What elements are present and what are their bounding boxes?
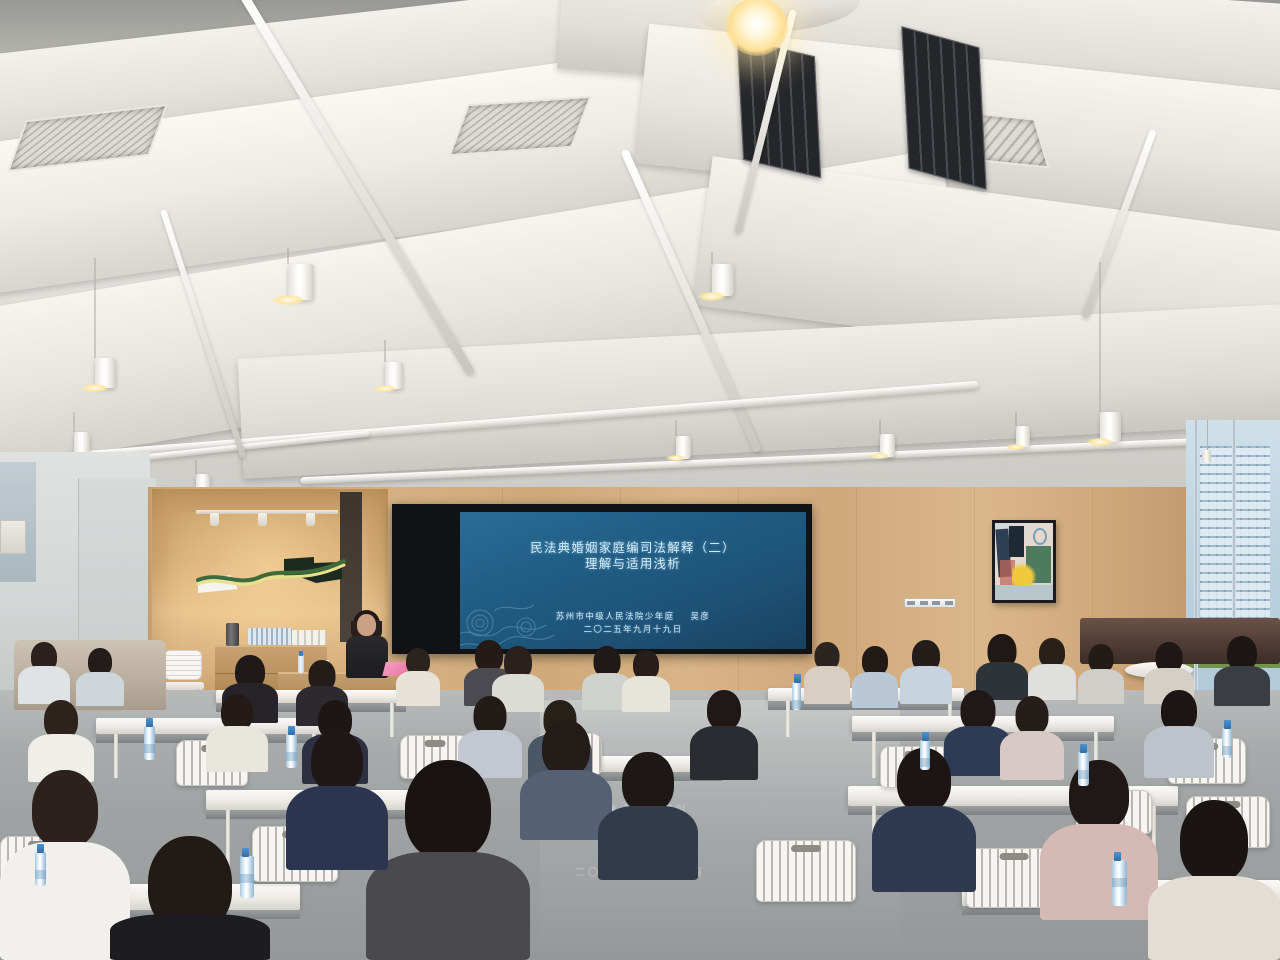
water-bottle xyxy=(792,682,801,710)
presenter xyxy=(344,614,390,676)
water-bottle xyxy=(35,852,46,886)
attendee xyxy=(622,650,670,712)
water-bottle xyxy=(1222,728,1232,758)
return-air-grille-icon xyxy=(901,26,986,189)
slide-organization: 苏州市中级人民法院少年庭 xyxy=(556,611,675,621)
attendee xyxy=(366,760,530,960)
attendee xyxy=(1148,800,1280,960)
paper-cups-stack xyxy=(248,628,292,645)
water-bottle xyxy=(240,856,254,898)
track-spotlight-icon xyxy=(258,513,267,526)
attendee xyxy=(286,730,388,870)
slide-date: 二〇二五年九月十九日 xyxy=(460,623,806,636)
attendee xyxy=(804,642,850,704)
attendee xyxy=(852,646,898,708)
slide-byline: 苏州市中级人民法院少年庭吴彦 二〇二五年九月十九日 xyxy=(460,610,806,636)
track-spotlight-icon xyxy=(210,513,219,526)
audience-chair[interactable] xyxy=(756,840,856,902)
ac-unit-icon xyxy=(0,520,26,554)
paper-cups-row xyxy=(292,630,326,645)
presentation-slide: 民法典婚姻家庭编司法解释（二） 理解与适用浅析 苏州市中级人民法院少年庭吴彦 二… xyxy=(460,512,806,649)
attendee xyxy=(18,642,70,704)
attendee xyxy=(396,648,440,706)
attendee xyxy=(1078,644,1124,704)
attendee xyxy=(1214,636,1270,706)
ceiling-lamp-bright xyxy=(726,0,788,56)
attendee xyxy=(1040,760,1158,920)
slide-title: 民法典婚姻家庭编司法解释（二） 理解与适用浅析 xyxy=(460,540,806,572)
attendee xyxy=(206,694,268,772)
water-bottle xyxy=(1112,860,1127,906)
pendant-light xyxy=(1202,450,1211,463)
air-diffuser-icon xyxy=(449,96,592,156)
slide-presenter: 吴彦 xyxy=(691,611,711,621)
water-bottle xyxy=(1078,752,1089,786)
attendee xyxy=(76,648,124,706)
attendee xyxy=(1028,638,1076,700)
water-bottle xyxy=(144,726,155,760)
framed-painting xyxy=(992,520,1056,603)
water-bottle xyxy=(920,740,930,770)
attendee xyxy=(690,690,758,780)
attendee xyxy=(598,752,698,880)
track-spotlight-icon xyxy=(306,513,315,526)
conference-room-photo: 民法典婚姻家庭编司法解释（二） 理解与适用浅析 苏州市中级人民法院少年庭吴彦 二… xyxy=(0,0,1280,960)
projection-screen: 民法典婚姻家庭编司法解释（二） 理解与适用浅析 苏州市中级人民法院少年庭吴彦 二… xyxy=(392,504,812,654)
wall-switch-panel[interactable] xyxy=(904,598,956,608)
abstract-wave-sculpture-icon xyxy=(196,553,346,597)
water-bottle xyxy=(286,734,297,768)
ceiling xyxy=(0,0,1280,500)
coffee-urn-icon xyxy=(226,623,239,646)
